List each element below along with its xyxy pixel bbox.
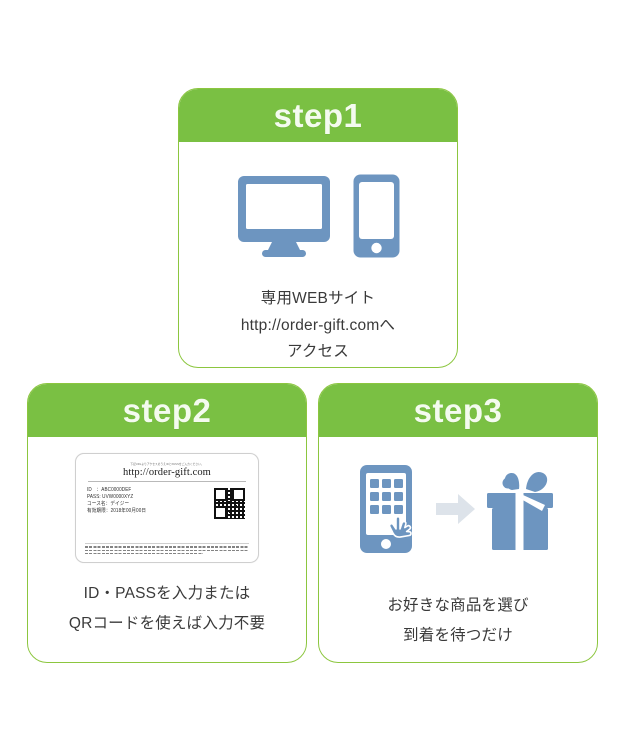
- fine-print-line: [85, 550, 249, 552]
- steps-diagram: step1 専用WEBサイト http: [0, 0, 625, 750]
- step3-icon-zone: [319, 443, 597, 569]
- desktop-monitor-icon: [236, 174, 332, 258]
- qr-dot: [234, 505, 237, 508]
- gift-card-field-course: コース名：デイジー: [87, 500, 146, 507]
- step1-caption: 専用WEBサイト http://order-gift.comへ アクセス: [241, 286, 395, 366]
- step3-header: step3: [319, 384, 597, 437]
- gift-card-fine-print: [85, 543, 249, 556]
- gift-card-field-pass: PASS: UVW0000XYZ: [87, 494, 146, 500]
- step1-header: step1: [179, 89, 457, 142]
- fine-print-line: [85, 553, 203, 555]
- gift-card-icon: 下記URLよりアクセスのうえIDとPASSをご入力ください。 http://or…: [75, 453, 259, 563]
- step2-caption-line-2: QRコードを使えば入力不要: [69, 609, 265, 639]
- step2-caption-line-1: ID・PASSを入力または: [69, 579, 265, 609]
- step-card-step1[interactable]: step1 専用WEBサイト http: [178, 88, 458, 368]
- step-card-step2[interactable]: step2 下記URLよりアクセスのうえIDとPASSをご入力ください。 htt…: [27, 383, 307, 663]
- gift-card-top-note: 下記URLよりアクセスのうえIDとPASSをご入力ください。: [87, 462, 247, 467]
- qr-finder-top-right: [232, 488, 245, 501]
- gift-card-divider: [88, 481, 246, 482]
- step3-caption-line-2: 到着を待つだけ: [387, 621, 528, 651]
- gift-box-icon: [482, 464, 558, 554]
- step1-label: step1: [274, 99, 363, 132]
- step2-header: step2: [28, 384, 306, 437]
- step1-caption-line-3: アクセス: [241, 339, 395, 366]
- gift-card-url: http://order-gift.com: [87, 467, 247, 478]
- arrow-right-icon: [434, 489, 478, 529]
- step1-icon-zone: [179, 148, 457, 276]
- qr-dot: [229, 510, 232, 513]
- step2-label: step2: [123, 394, 212, 427]
- step2-caption: ID・PASSを入力または QRコードを使えば入力不要: [69, 579, 265, 639]
- step2-icon-zone: 下記URLよりアクセスのうえIDとPASSをご入力ください。 http://or…: [28, 443, 306, 563]
- step2-body: 下記URLよりアクセスのうえIDとPASSをご入力ください。 http://or…: [28, 437, 306, 662]
- gift-card-field-expiry: 有効期限：2018年00月00日: [87, 508, 146, 515]
- qr-dot: [227, 501, 230, 504]
- step3-label: step3: [414, 394, 503, 427]
- gift-card-middle: ID ：ABC0000DEF PASS: UVW0000XYZ コース名：デイジ…: [87, 486, 247, 519]
- step3-caption: お好きな商品を選び 到着を待つだけ: [387, 591, 528, 651]
- step3-body: お好きな商品を選び 到着を待つだけ: [319, 437, 597, 662]
- gift-card-field-id: ID ：ABC0000DEF: [87, 486, 146, 493]
- step1-caption-line-1: 専用WEBサイト: [241, 286, 395, 313]
- step1-body: 専用WEBサイト http://order-gift.comへ アクセス: [179, 142, 457, 367]
- step-card-step3[interactable]: step3: [318, 383, 598, 663]
- step1-caption-line-2: http://order-gift.comへ: [241, 313, 395, 340]
- smartphone-icon: [352, 173, 401, 259]
- fine-print-line: [85, 546, 249, 548]
- gift-card-fields: ID ：ABC0000DEF PASS: UVW0000XYZ コース名：デイジ…: [87, 486, 146, 515]
- smartphone-grid-icon: [358, 463, 430, 555]
- step3-caption-line-1: お好きな商品を選び: [387, 591, 528, 621]
- qr-code-icon: [214, 488, 245, 519]
